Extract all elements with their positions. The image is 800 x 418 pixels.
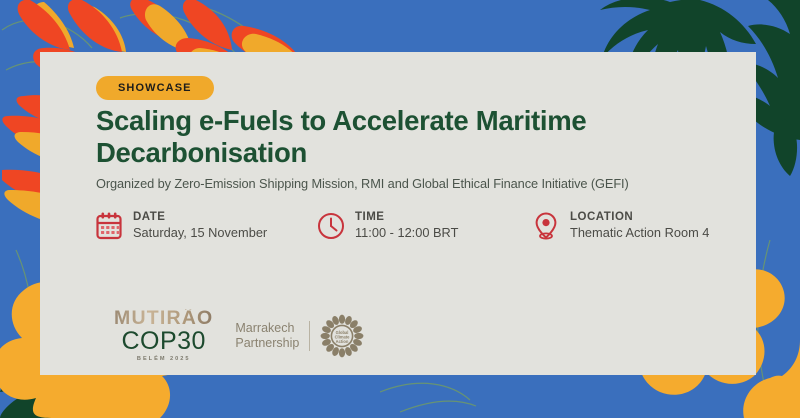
cop30-logo: MUTIRÃO COP30 BELÉM 2025 (114, 309, 213, 363)
calendar-icon (95, 211, 123, 241)
event-poster: SHOWCASE Scaling e-Fuels to Accelerate M… (0, 0, 800, 418)
event-date: DATE Saturday, 15 November (95, 210, 317, 241)
title-line-2: Decarbonisation (96, 137, 307, 168)
marrakech-partnership-text: Marrakech Partnership (235, 321, 310, 352)
event-date-value: Saturday, 15 November (133, 225, 267, 241)
title-line-1: Scaling e-Fuels to Accelerate Maritime (96, 105, 586, 136)
cop30-wordmark: COP30 (114, 329, 213, 354)
event-details-row: DATE Saturday, 15 November TIME 11:00 - … (95, 210, 755, 241)
event-time-value: 11:00 - 12:00 BRT (355, 225, 458, 241)
emblem-line-3: Action (336, 339, 349, 344)
event-location-value: Thematic Action Room 4 (570, 225, 709, 241)
belem-wordmark: BELÉM 2025 (114, 357, 213, 363)
clock-icon (317, 211, 345, 241)
event-location: LOCATION Thematic Action Room 4 (532, 210, 709, 241)
logo-row: MUTIRÃO COP30 BELÉM 2025 Marrakech Partn… (114, 309, 364, 363)
event-date-label: DATE (133, 210, 267, 225)
event-location-label: LOCATION (570, 210, 709, 225)
content-card: SHOWCASE Scaling e-Fuels to Accelerate M… (40, 52, 756, 375)
event-time: TIME 11:00 - 12:00 BRT (317, 210, 532, 241)
event-date-text: DATE Saturday, 15 November (133, 210, 267, 241)
marrakech-partnership-logo: Marrakech Partnership (235, 314, 364, 358)
showcase-badge: SHOWCASE (96, 76, 214, 100)
organizer-text: Organized by Zero-Emission Shipping Miss… (96, 176, 629, 191)
marrakech-line-1: Marrakech (235, 321, 299, 336)
event-time-label: TIME (355, 210, 458, 225)
page-title: Scaling e-Fuels to Accelerate Maritime D… (96, 105, 716, 170)
marrakech-line-2: Partnership (235, 336, 299, 351)
location-pin-icon (532, 211, 560, 241)
event-location-text: LOCATION Thematic Action Room 4 (570, 210, 709, 241)
mutirao-wordmark: MUTIRÃO (114, 309, 213, 329)
global-climate-action-emblem-icon: Global Climate Action (320, 314, 364, 358)
event-time-text: TIME 11:00 - 12:00 BRT (355, 210, 458, 241)
